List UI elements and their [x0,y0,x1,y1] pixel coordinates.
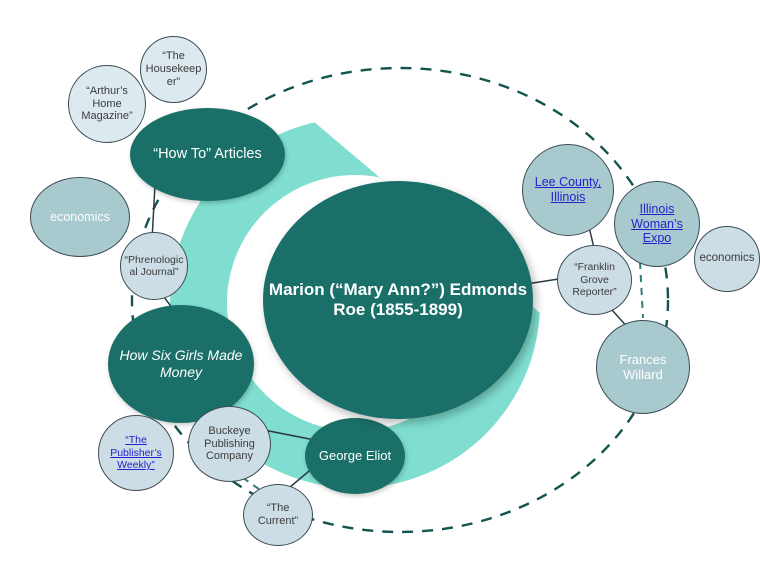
node-phrenological-journal[interactable]: “Phrenological Journal” [120,232,188,300]
node-center-marion-roe[interactable]: Marion (“Mary Ann?”) Edmonds Roe (1855-1… [263,181,533,419]
node-buckeye-publishing-company[interactable]: Buckeye Publishing Company [188,406,271,482]
node-franklin-grove-reporter[interactable]: “Franklin Grove Reporter” [557,245,632,315]
node-how-to-articles[interactable]: “How To” Articles [130,108,285,201]
edge-expo-frances [640,262,643,318]
node-the-housekeeper[interactable]: “The Housekeeper” [140,36,207,103]
node-publishers-weekly[interactable]: “The Publisher’s Weekly” [98,415,174,491]
node-arthurs-home-magazine[interactable]: “Arthur’s Home Magazine” [68,65,146,143]
node-frances-willard[interactable]: Frances Willard [596,320,690,414]
node-economics-right[interactable]: economics [694,226,760,292]
node-illinois-womans-expo[interactable]: Illinois Woman’s Expo [614,181,700,267]
node-economics-left[interactable]: economics [30,177,130,257]
node-lee-county-illinois[interactable]: Lee County, Illinois [522,144,614,236]
node-the-current[interactable]: “The Current” [243,484,313,546]
node-george-eliot[interactable]: George Eliot [305,418,405,494]
concept-map-canvas: “How To” Articles “The Housekeeper” “Art… [0,0,760,570]
